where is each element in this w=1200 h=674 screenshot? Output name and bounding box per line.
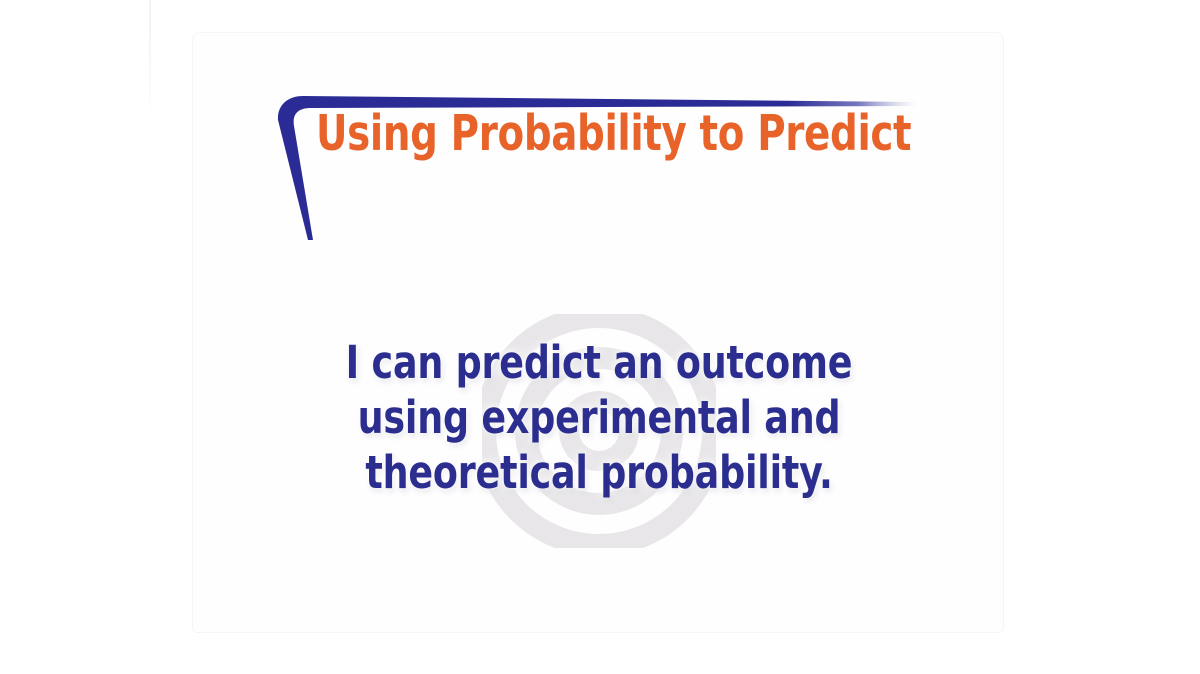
objective-line: using experimental and (333, 390, 866, 445)
objective-line: I can predict an outcome (333, 335, 866, 390)
objective-statement: I can predict an outcome using experimen… (303, 335, 895, 500)
objective-line: theoretical probability. (333, 445, 866, 500)
slide-canvas: Using Probability to Predict I can predi… (193, 33, 1003, 632)
slide-stage: Using Probability to Predict I can predi… (0, 0, 1200, 674)
page-title: Using Probability to Predict (316, 108, 911, 160)
left-panel-divider (149, 0, 151, 120)
